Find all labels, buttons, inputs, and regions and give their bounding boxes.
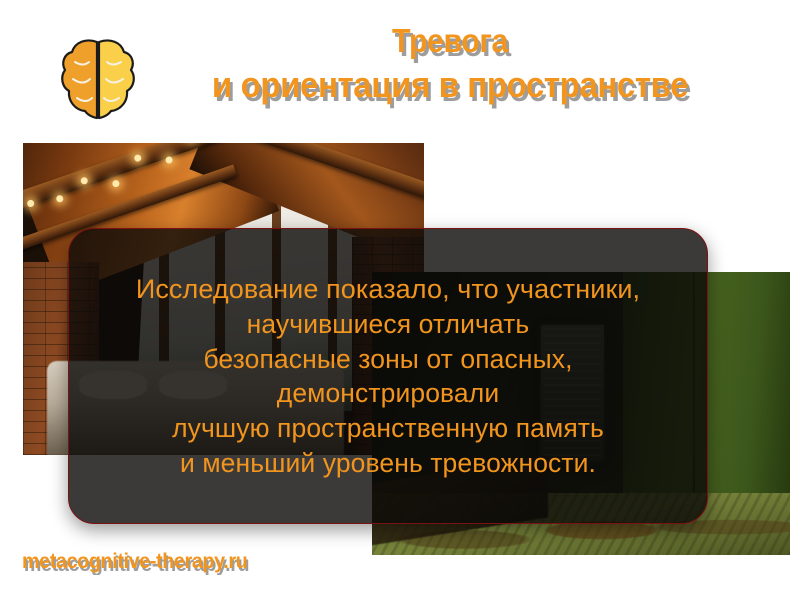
quote-line-2: научившиеся отличать bbox=[136, 307, 640, 342]
watermark: metacognitive-therapy.ru bbox=[22, 550, 247, 574]
quote-line-1: Исследование показало, что участники, bbox=[136, 272, 640, 307]
quote-line-3: безопасные зоны от опасных, bbox=[136, 342, 640, 377]
slide-canvas: Тревога и ориентация в пространстве bbox=[0, 0, 800, 600]
title-line-1: Тревога bbox=[146, 22, 753, 60]
quote-line-5: лучшую пространственную память bbox=[136, 411, 640, 446]
title-line-2: и ориентация в пространстве bbox=[146, 64, 753, 106]
quote-line-4: демонстрировали bbox=[136, 376, 640, 411]
quote-text: Исследование показало, что участники, на… bbox=[118, 272, 658, 481]
quote-card: Исследование показало, что участники, на… bbox=[68, 228, 708, 524]
page-title: Тревога и ориентация в пространстве bbox=[120, 22, 780, 106]
quote-line-6: и меньший уровень тревожности. bbox=[136, 446, 640, 481]
